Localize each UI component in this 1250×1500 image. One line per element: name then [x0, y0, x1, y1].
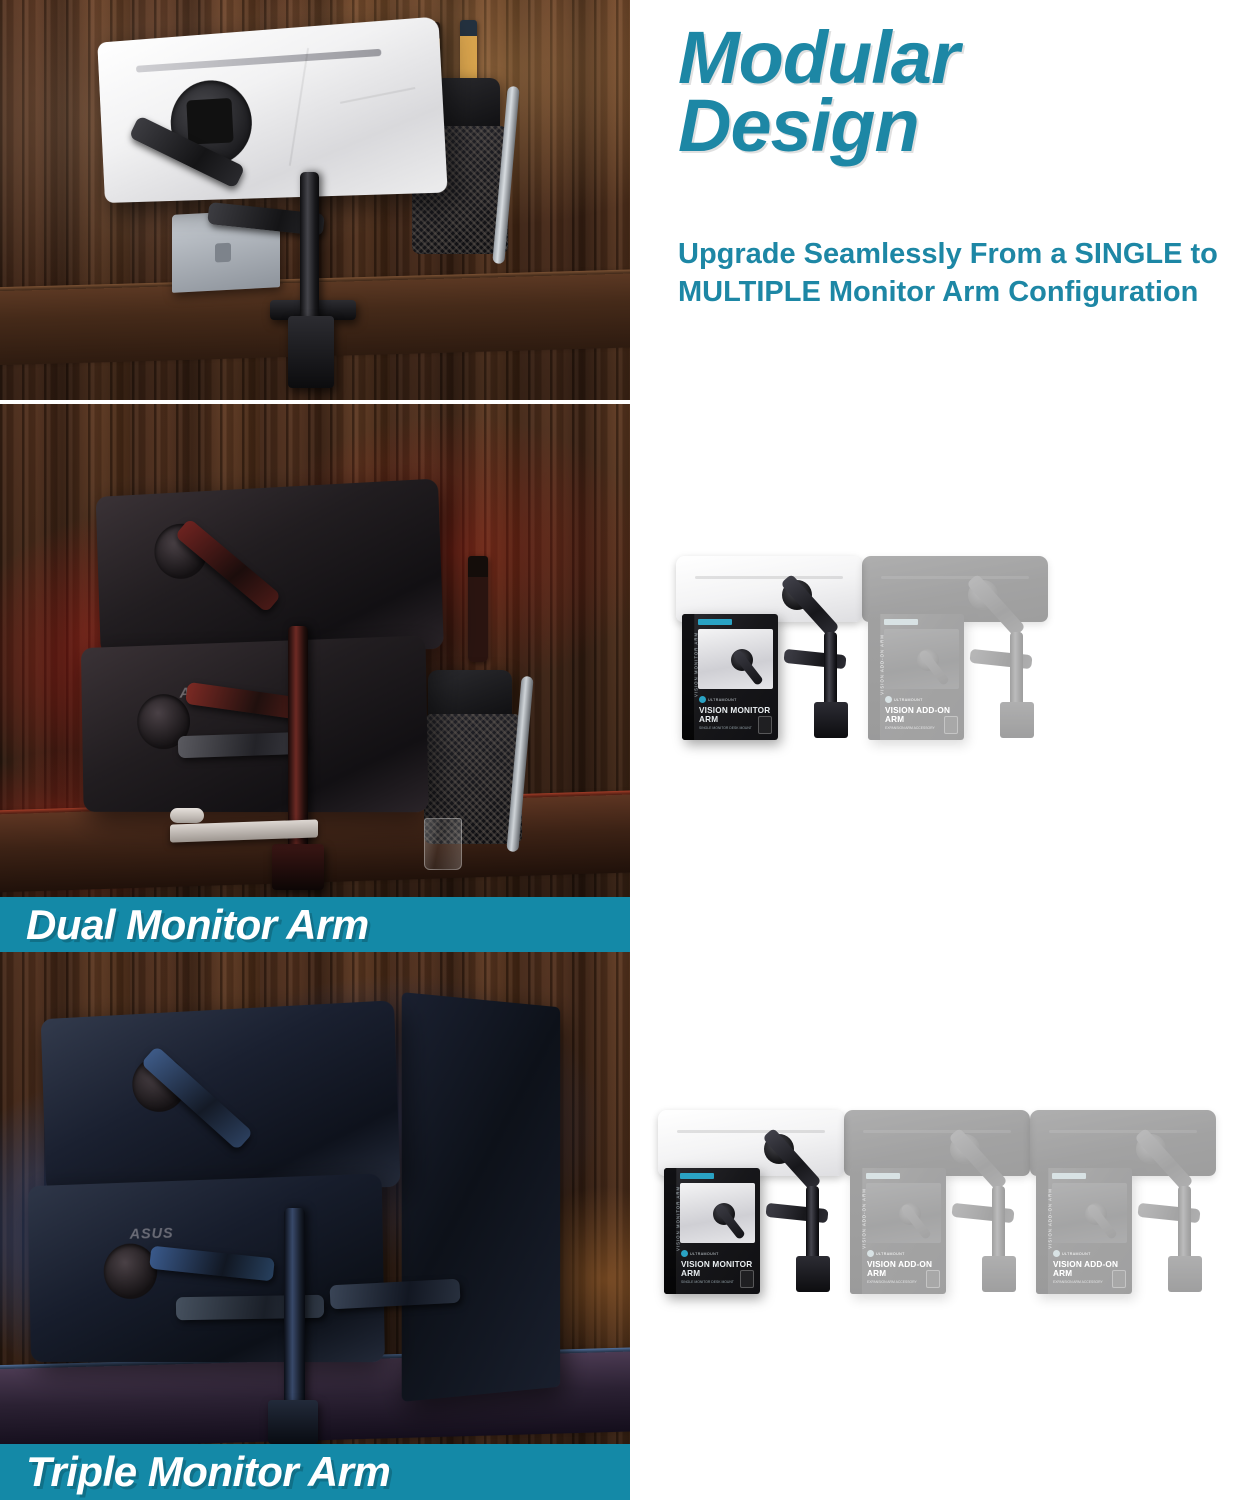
box-subtitle: EXPANSION ARM ACCESSORY: [885, 726, 942, 730]
box-spine: VISION ADD-ON ARM: [850, 1168, 863, 1294]
box-subtitle: SINGLE MONITOR DESK MOUNT: [699, 726, 756, 730]
product-desk-clamp: [1000, 702, 1034, 738]
monitor-vent: [1049, 1130, 1198, 1133]
box-brand-name: ULTRAMOUNT: [876, 1252, 905, 1256]
product-arm-lower-segment: [969, 649, 1032, 669]
photo-triple-monitor-setup: ASUS: [0, 952, 630, 1448]
box-spine: VISION MONITOR ARM: [682, 614, 695, 740]
photo-single-monitor-setup: [0, 0, 630, 400]
box-brand-logo: ULTRAMOUNT: [885, 696, 923, 703]
marketing-infographic: ASUS Dual Monitor Arm MA20P-S + MA20P-A …: [0, 0, 1250, 1500]
product-monitor-dark: [844, 1110, 1030, 1176]
vesa-mount-plate: [103, 1243, 157, 1299]
monitor-vent: [863, 1130, 1012, 1133]
box-brand-name: ULTRAMOUNT: [894, 698, 923, 702]
brand-logo-icon: [699, 696, 706, 703]
desk-clamp: [268, 1400, 318, 1444]
product-monitor-dark: [862, 556, 1048, 622]
monitor-side-portrait-rear: [402, 992, 560, 1402]
monitor-vent: [136, 49, 381, 73]
box-brand-logo: ULTRAMOUNT: [681, 1250, 719, 1257]
box-subtitle: EXPANSION ARM ACCESSORY: [867, 1280, 924, 1284]
box-product-window: [680, 1183, 755, 1243]
brand-logo-icon: [681, 1250, 688, 1257]
monitor-upper-rear: [41, 1000, 401, 1193]
box-brand-logo: ULTRAMOUNT: [867, 1250, 905, 1257]
monitor-brand-label: ASUS: [130, 1224, 174, 1242]
box-subtitle: EXPANSION ARM ACCESSORY: [1053, 1280, 1110, 1284]
retail-box-vision-monitor-arm: VISION MONITOR ARM ULTRAMOUNT VISION MON…: [664, 1168, 760, 1294]
product-desk-clamp: [814, 702, 848, 738]
product-arm-lower-segment: [765, 1203, 828, 1223]
monitor-vent: [695, 576, 844, 579]
brand-logo-icon: [1053, 1250, 1060, 1257]
banner-label-triple: Triple Monitor Arm: [26, 1448, 390, 1496]
retail-box-vision-monitor-arm: VISION MONITOR ARM ULTRAMOUNT VISION MON…: [682, 614, 778, 740]
product-arm-lower-segment: [783, 649, 846, 669]
monitor-upper-rear: [96, 478, 444, 654]
whisky-bottle: [468, 556, 488, 662]
box-badge: [944, 716, 958, 734]
monitor-facet-line: [289, 48, 309, 166]
ultrawide-monitor-rear: [97, 16, 447, 203]
box-product-window: [884, 629, 959, 689]
product-arm-lower-segment: [1137, 1203, 1200, 1223]
product-desk-clamp: [1168, 1256, 1202, 1292]
box-spine: VISION ADD-ON ARM: [1036, 1168, 1049, 1294]
retail-box-vision-add-on-arm: VISION ADD-ON ARM ULTRAMOUNT VISION ADD-…: [850, 1168, 946, 1294]
product-group-vision-add-on-arm: VISION ADD-ON ARM ULTRAMOUNT VISION ADD-…: [850, 556, 1050, 776]
page-subtitle: Upgrade Seamlessly From a SINGLE to MULT…: [678, 236, 1238, 311]
box-brand-name: ULTRAMOUNT: [690, 1252, 719, 1256]
page-title: Modular Design: [678, 24, 1238, 160]
box-badge: [758, 716, 772, 734]
headline-line-1: Modular: [678, 24, 1238, 92]
box-spine: VISION MONITOR ARM: [664, 1168, 677, 1294]
box-badge: [1112, 1270, 1126, 1288]
box-brand-logo: ULTRAMOUNT: [699, 696, 737, 703]
box-accent-strip: [698, 619, 732, 625]
box-accent-strip: [1052, 1173, 1086, 1179]
box-brand-name: ULTRAMOUNT: [1062, 1252, 1091, 1256]
product-monitor-white: [676, 556, 862, 622]
product-desk-clamp: [982, 1256, 1016, 1292]
monitor-lower-rear: ASUS: [81, 635, 429, 812]
box-spine: VISION ADD-ON ARM: [868, 614, 881, 740]
box-brand-name: ULTRAMOUNT: [708, 698, 737, 702]
product-monitor-dark: [1030, 1110, 1216, 1176]
photo-dual-monitor-setup: ASUS: [0, 404, 630, 897]
product-monitor-white: [658, 1110, 844, 1176]
monitor-vent: [881, 576, 1030, 579]
desk-clamp: [272, 844, 324, 890]
brand-logo-icon: [885, 696, 892, 703]
box-product-window: [698, 629, 773, 689]
right-content-column: Modular Design Upgrade Seamlessly From a…: [630, 0, 1250, 1500]
monitor-facet-line: [340, 86, 415, 103]
box-accent-strip: [866, 1173, 900, 1179]
box-accent-strip: [884, 619, 918, 625]
box-badge: [740, 1270, 754, 1288]
panel-divider: [0, 400, 630, 403]
product-desk-clamp: [796, 1256, 830, 1292]
box-subtitle: SINGLE MONITOR DESK MOUNT: [681, 1280, 738, 1284]
whisky-glass: [424, 818, 462, 870]
box-accent-strip: [680, 1173, 714, 1179]
mouse: [170, 808, 204, 823]
product-group-vision-add-on-arm: VISION ADD-ON ARM ULTRAMOUNT VISION ADD-…: [1018, 1110, 1218, 1330]
monitor-vent: [677, 1130, 826, 1133]
brand-logo-icon: [867, 1250, 874, 1257]
retail-box-vision-add-on-arm: VISION ADD-ON ARM ULTRAMOUNT VISION ADD-…: [868, 614, 964, 740]
box-badge: [926, 1270, 940, 1288]
product-group-vision-monitor-arm: VISION MONITOR ARM ULTRAMOUNT VISION MON…: [646, 1110, 846, 1330]
product-arm-lower-segment: [951, 1203, 1014, 1223]
product-group-vision-monitor-arm: VISION MONITOR ARM ULTRAMOUNT VISION MON…: [664, 556, 864, 776]
desk-clamp: [288, 316, 334, 388]
box-product-window: [1052, 1183, 1127, 1243]
box-product-window: [866, 1183, 941, 1243]
retail-box-vision-add-on-arm: VISION ADD-ON ARM ULTRAMOUNT VISION ADD-…: [1036, 1168, 1132, 1294]
headline-line-2: Design: [678, 92, 1238, 160]
banner-label-dual: Dual Monitor Arm: [26, 901, 369, 949]
product-group-vision-add-on-arm: VISION ADD-ON ARM ULTRAMOUNT VISION ADD-…: [832, 1110, 1032, 1330]
box-brand-logo: ULTRAMOUNT: [1053, 1250, 1091, 1257]
